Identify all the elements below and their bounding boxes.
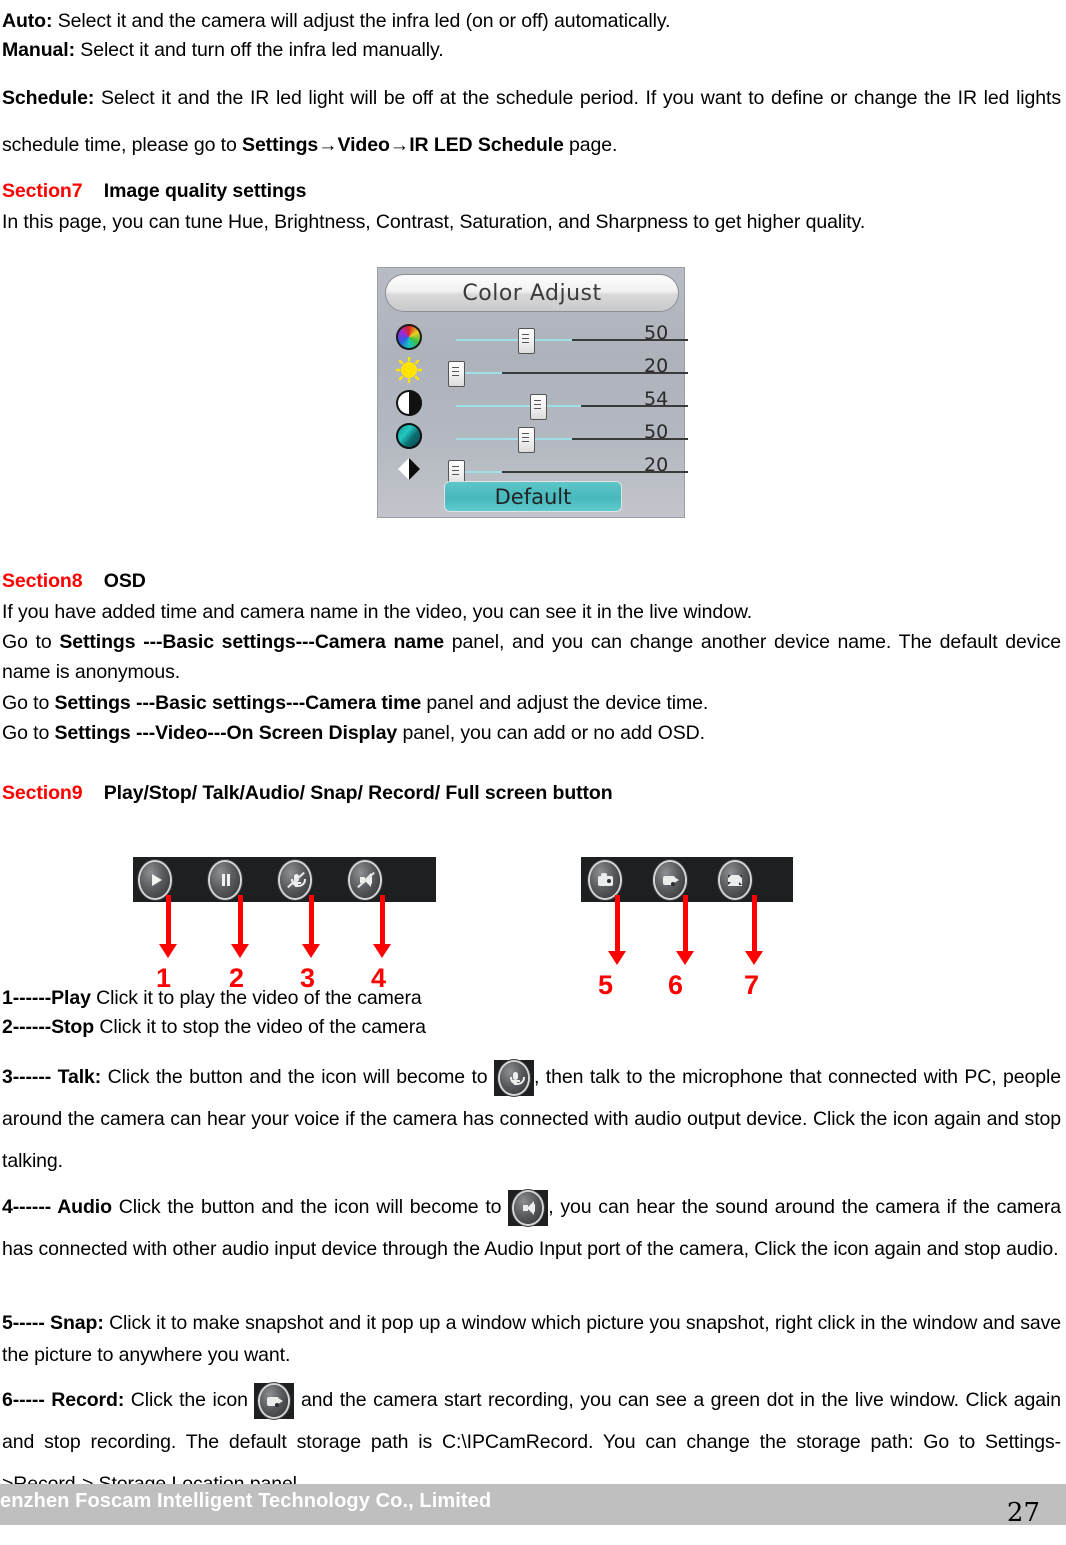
speaker-muted-icon (356, 871, 374, 889)
audio-button[interactable] (349, 861, 381, 899)
fullscreen-button[interactable] (719, 861, 751, 899)
callout-arrow-6 (683, 895, 688, 952)
legend-item-5-text: Click it to make snapshot and it pop up … (2, 1312, 1061, 1366)
section8-line1: If you have added time and camera name i… (2, 597, 1062, 627)
section8-line3-post: panel and adjust the device time. (421, 692, 708, 714)
hue-slider-thumb[interactable] (518, 328, 535, 354)
section9-number: Section9 (2, 782, 82, 804)
talk-active-icon (494, 1060, 534, 1096)
brightness-slider-thumb[interactable] (448, 361, 465, 387)
pause-icon (216, 871, 234, 889)
snapshot-camera-icon (596, 871, 614, 889)
footer-company-name: enzhen Foscam Intelligent Technology Co.… (0, 1490, 491, 1513)
section8-number: Section8 (2, 570, 82, 592)
legend-item-6-key: 6----- Record: (2, 1389, 124, 1411)
contrast-icon (396, 390, 422, 416)
legend-item-2-key: 2------Stop (2, 1016, 94, 1038)
legend-item-3: 3------ Talk: Click the button and the i… (2, 1056, 1061, 1182)
snap-button[interactable] (589, 861, 621, 899)
brightness-icon (396, 357, 422, 383)
hue-value: 50 (644, 322, 688, 344)
section8-line3: Go to Settings ---Basic settings---Camer… (2, 688, 1062, 718)
section8-line2: Go to Settings ---Basic settings---Camer… (2, 627, 1061, 687)
brightness-value: 20 (644, 355, 688, 377)
legend-item-1-key: 1------Play (2, 987, 91, 1009)
slider-row-saturation: 50 (378, 419, 686, 452)
legend-item-3-key: 3------ Talk: (2, 1066, 101, 1088)
section9-title: Play/Stop/ Talk/Audio/ Snap/ Record/ Ful… (104, 782, 613, 804)
section8-line2-path: Settings ---Basic settings---Camera name (59, 631, 444, 653)
record-button[interactable] (654, 861, 686, 899)
manual-text: Select it and turn off the infra led man… (75, 39, 444, 61)
player-toolbar-left (133, 857, 436, 902)
section8-heading: Section8 OSD (2, 566, 1062, 596)
stop-button[interactable] (209, 861, 241, 899)
default-button-label: Default (495, 485, 572, 509)
callout-arrow-4 (380, 895, 385, 945)
contrast-slider-thumb[interactable] (530, 394, 547, 420)
mic-muted-icon (286, 871, 304, 889)
play-button[interactable] (139, 861, 171, 899)
section8-line4-path: Settings ---Video---On Screen Display (55, 722, 398, 744)
contrast-value: 54 (644, 388, 688, 410)
legend-item-1: 1------Play Click it to play the video o… (2, 983, 702, 1013)
auto-label: Auto: (2, 10, 52, 32)
sharpness-icon (396, 456, 422, 482)
section8-line4-pre: Go to (2, 722, 55, 744)
section8-line3-pre: Go to (2, 692, 55, 714)
play-icon (146, 871, 164, 889)
talk-button[interactable] (279, 861, 311, 899)
callout-arrow-2 (238, 895, 243, 945)
color-adjust-title: Color Adjust (462, 281, 601, 306)
legend-item-4-text-a: Click the button and the icon will becom… (112, 1196, 508, 1218)
callout-arrow-7 (752, 895, 757, 952)
audio-active-icon (508, 1190, 548, 1226)
hue-icon (396, 324, 422, 350)
section8-line3-path: Settings ---Basic settings---Camera time (55, 692, 422, 714)
color-adjust-title-bar: Color Adjust (385, 274, 679, 312)
section8-line2-pre: Go to (2, 631, 59, 653)
section7-title: Image quality settings (104, 180, 307, 202)
color-adjust-slider-list: 50 (378, 320, 686, 485)
legend-item-2-text: Click it to stop the video of the camera (94, 1016, 426, 1038)
callout-number-7: 7 (744, 970, 759, 1001)
legend-item-5: 5----- Snap: Click it to make snapshot a… (2, 1307, 1061, 1371)
saturation-icon (396, 423, 422, 449)
callout-arrow-5 (615, 895, 620, 952)
legend-item-1-text: Click it to play the video of the camera (91, 987, 422, 1009)
manual-label: Manual: (2, 39, 75, 61)
slider-row-hue: 50 (378, 320, 686, 353)
slider-row-contrast: 54 (378, 386, 686, 419)
callout-arrow-3 (309, 895, 314, 945)
default-button[interactable]: Default (444, 481, 622, 512)
sharpness-value: 20 (644, 454, 688, 476)
callout-arrow-1 (166, 895, 171, 945)
schedule-tail: page. (564, 134, 618, 156)
legend-item-4-key: 4------ Audio (2, 1196, 112, 1218)
legend-item-5-key: 5----- Snap: (2, 1312, 104, 1334)
auto-paragraph: Auto: Select it and the camera will adju… (2, 6, 1062, 36)
legend-item-6-text-a: Click the icon (124, 1389, 254, 1411)
document-page: Auto: Select it and the camera will adju… (0, 0, 1066, 1545)
record-active-icon (254, 1383, 294, 1419)
saturation-value: 50 (644, 421, 688, 443)
legend-item-4: 4------ Audio Click the button and the i… (2, 1186, 1061, 1270)
section7-number: Section7 (2, 180, 82, 202)
schedule-menu-path: Settings→Video→IR LED Schedule (242, 134, 564, 156)
schedule-label: Schedule: (2, 87, 94, 109)
legend-item-2: 2------Stop Click it to stop the video o… (2, 1012, 702, 1042)
color-adjust-panel: Color Adjust 50 (377, 267, 685, 518)
section7-body: In this page, you can tune Hue, Brightne… (2, 207, 1062, 237)
record-camcorder-icon (661, 871, 679, 889)
slider-row-brightness: 20 (378, 353, 686, 386)
section9-heading: Section9 Play/Stop/ Talk/Audio/ Snap/ Re… (2, 778, 1062, 808)
section8-title: OSD (104, 570, 146, 592)
section8-line4-post: panel, you can add or no add OSD. (397, 722, 705, 744)
page-number: 27 (1007, 1498, 1040, 1528)
legend-item-3-text-a: Click the button and the icon will becom… (101, 1066, 494, 1088)
schedule-paragraph: Schedule: Select it and the IR led light… (2, 75, 1061, 169)
auto-text: Select it and the camera will adjust the… (52, 10, 670, 32)
saturation-slider-thumb[interactable] (518, 427, 535, 453)
fullscreen-icon (726, 871, 744, 889)
section7-heading: Section7 Image quality settings (2, 176, 1062, 206)
section8-line4: Go to Settings ---Video---On Screen Disp… (2, 718, 1062, 748)
manual-paragraph: Manual: Select it and turn off the infra… (2, 35, 1062, 65)
